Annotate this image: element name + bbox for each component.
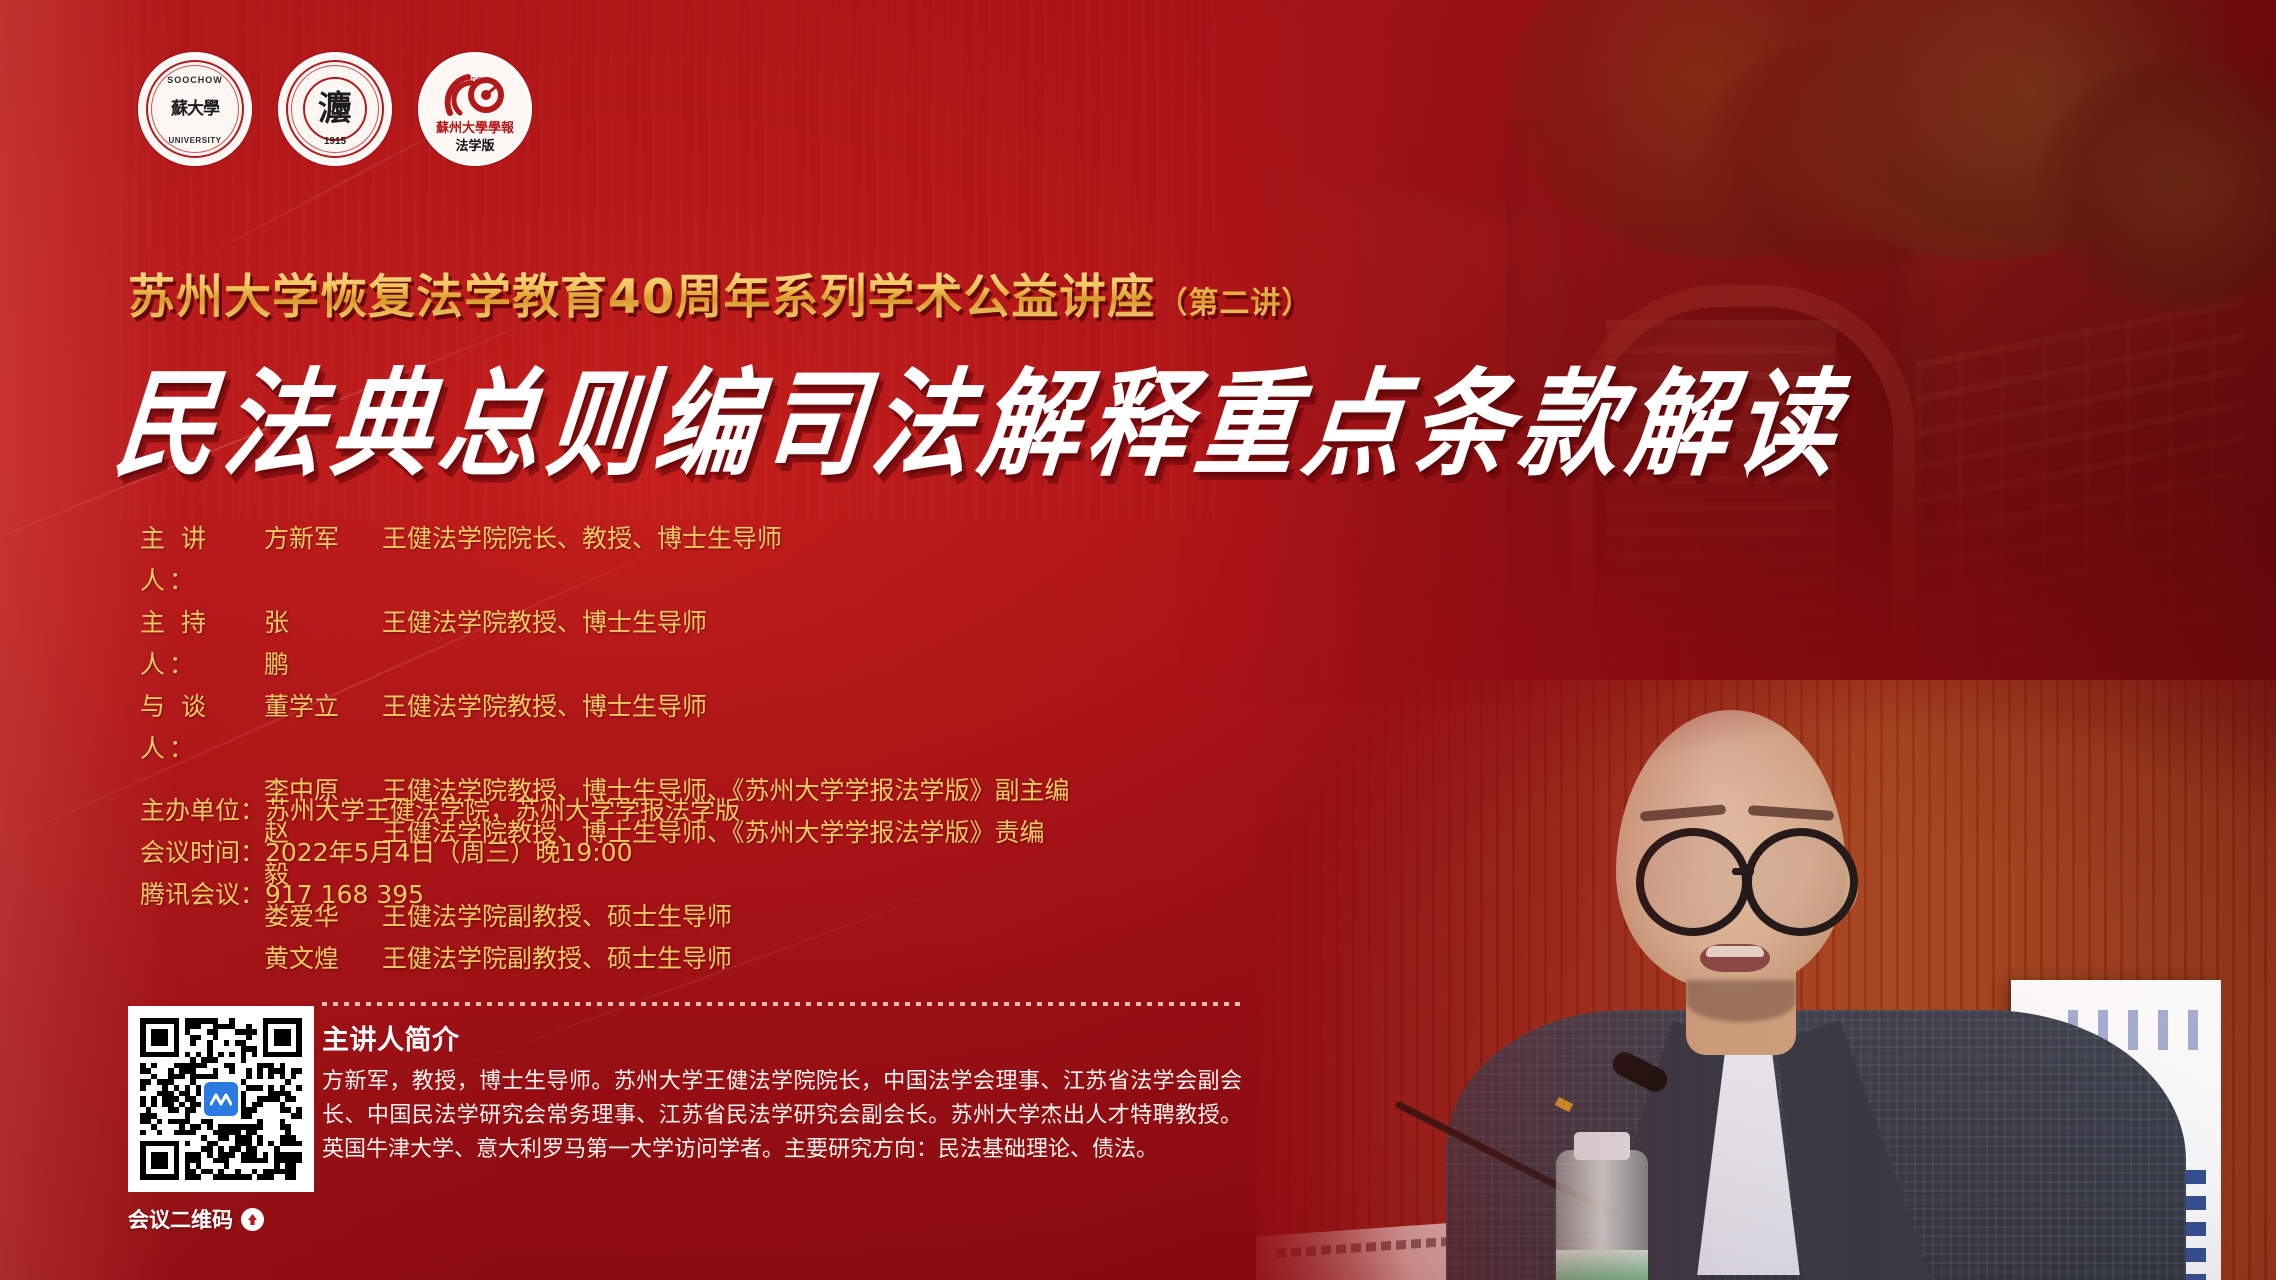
speaker-photo-tint: [1256, 680, 2276, 1280]
series-title: 苏州大学恢复法学教育40周年系列学术公益讲座 （第二讲）: [128, 258, 1312, 327]
seal-chinese-glyph: 灋: [318, 92, 352, 126]
kenneth-wang-law-school-seal-icon: 灋 1915: [278, 52, 392, 166]
bio-heading: 主讲人简介: [322, 1018, 1242, 1057]
journal-name-line1: 蘇州大學學報: [421, 117, 529, 136]
logo-row: SOOCHOW 蘇大學 UNIVERSITY 灋 1915 1906 蘇州大學學…: [138, 52, 532, 166]
bio-text: 方新军，教授，博士生导师。苏州大学王健法学院院长，中国法学会理事、江苏省法学会副…: [322, 1065, 1242, 1167]
series-title-main: 苏州大学恢复法学教育40周年系列学术公益讲座: [128, 258, 1155, 327]
meta-organizer: 主办单位：苏州大学王健法学院，苏州大学学报法学版: [140, 790, 740, 832]
journal-mark-icon: 1906: [444, 71, 506, 117]
page-title: 民法典总则编司法解释重点条款解读: [108, 330, 1854, 498]
qr-section: 会议二维码: [128, 1006, 318, 1234]
person-role: 主 讲 人：: [140, 518, 264, 602]
person-name: 黄文煌: [264, 938, 382, 980]
person-title: 王健法学院教授、博士生导师: [382, 686, 707, 770]
speaker-photo: [1256, 680, 2276, 1280]
seal-english-bottom: UNIVERSITY: [168, 136, 221, 145]
arrow-up-icon: [241, 1208, 264, 1231]
person-title: 王健法学院院长、教授、博士生导师: [382, 518, 782, 602]
series-title-suffix: （第二讲）: [1157, 278, 1312, 322]
person-title: 王健法学院教授、博士生导师: [382, 602, 707, 686]
seal-english-top: SOOCHOW: [167, 75, 223, 85]
person-title: 王健法学院副教授、硕士生导师: [382, 938, 732, 980]
qr-caption-label: 会议二维码: [128, 1204, 233, 1234]
soochow-university-seal-icon: SOOCHOW 蘇大學 UNIVERSITY: [138, 52, 252, 166]
person-role: 主 持 人：: [140, 602, 264, 686]
lecture-poster: SOOCHOW 蘇大學 UNIVERSITY 灋 1915 1906 蘇州大學學…: [0, 0, 2276, 1280]
event-meta: 主办单位：苏州大学王健法学院，苏州大学学报法学版 会议时间：2022年5月4日（…: [140, 790, 740, 916]
seal-founding-year: 1915: [324, 136, 346, 147]
person-name: 董学立: [264, 686, 382, 770]
qr-caption: 会议二维码: [128, 1204, 318, 1234]
meeting-glyph-icon: [210, 1091, 232, 1107]
svg-text:1906: 1906: [461, 76, 481, 85]
list-item: 主 讲 人： 方新军 王健法学院院长、教授、博士生导师: [140, 518, 1070, 602]
person-role: 与 谈 人：: [140, 686, 264, 770]
meta-datetime: 会议时间：2022年5月4日（周三）晚19:00: [140, 832, 740, 874]
person-role: [140, 938, 264, 980]
journal-name-line2: 法学版: [421, 135, 529, 154]
bio-divider: [322, 1002, 1242, 1006]
journal-law-edition-logo-icon: 1906 蘇州大學學報 法学版: [418, 52, 532, 166]
tencent-meeting-icon: [204, 1082, 238, 1116]
speaker-bio: 主讲人简介 方新军，教授，博士生导师。苏州大学王健法学院院长，中国法学会理事、江…: [322, 1002, 1242, 1167]
meta-meeting-id: 腾讯会议：917 168 395: [140, 874, 740, 916]
list-item: 与 谈 人： 董学立 王健法学院教授、博士生导师: [140, 686, 1070, 770]
qr-code[interactable]: [128, 1006, 314, 1192]
person-name: 张 鹏: [264, 602, 382, 686]
list-item: 主 持 人： 张 鹏 王健法学院教授、博士生导师: [140, 602, 1070, 686]
person-name: 方新军: [264, 518, 382, 602]
list-item: 黄文煌 王健法学院副教授、硕士生导师: [140, 938, 1070, 980]
